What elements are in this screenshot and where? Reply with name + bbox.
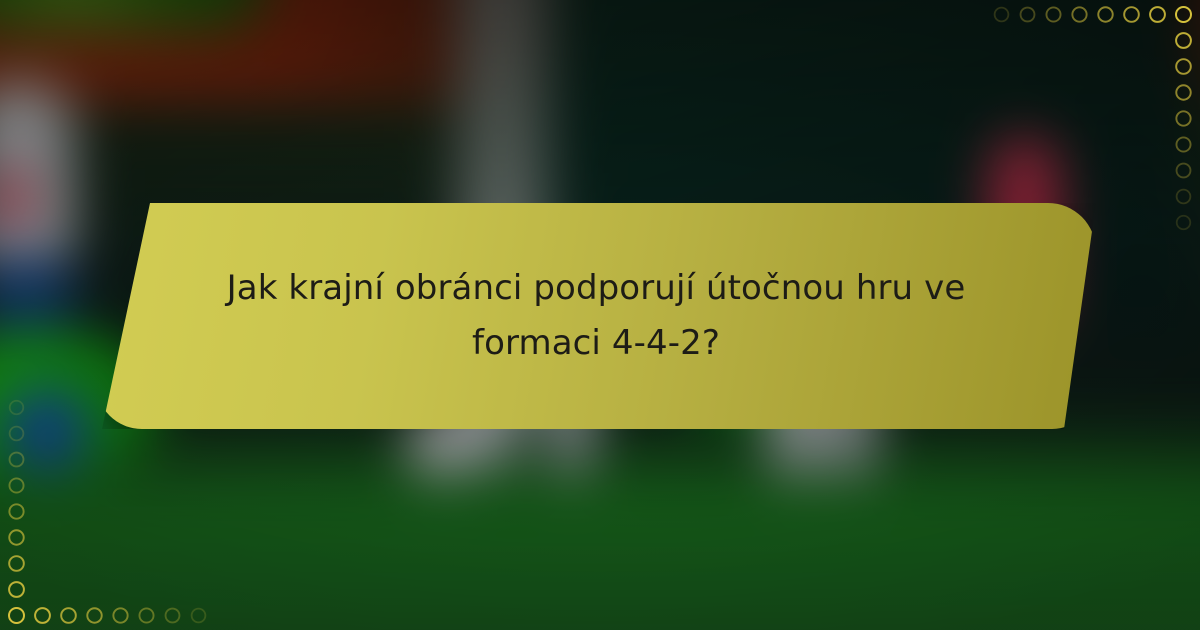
question-card-content: Jak krajní obránci podporují útočnou hru… bbox=[96, 203, 1096, 429]
question-text: Jak krajní obránci podporují útočnou hru… bbox=[216, 261, 976, 371]
question-card: Jak krajní obránci podporují útočnou hru… bbox=[96, 203, 1096, 429]
screenshot-canvas: Jak krajní obránci podporují útočnou hru… bbox=[0, 0, 1200, 630]
